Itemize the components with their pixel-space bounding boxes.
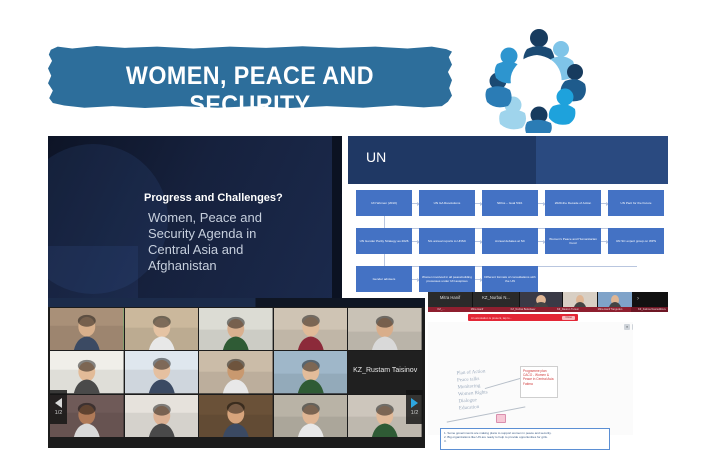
slide-un-framework: UN UN Women (2010)UN GA ResolutionsSDGs …: [348, 136, 668, 298]
gallery-prev-button[interactable]: 1/2: [50, 390, 67, 424]
gallery-next-button[interactable]: 1/2: [406, 390, 423, 424]
flow-box: Annual debates at SC: [482, 228, 538, 254]
header-banner-area: WOMEN, PEACE AND SECURITY: [0, 0, 716, 132]
wps-circle-figures-logo: [483, 25, 591, 133]
participant-tile[interactable]: [199, 395, 273, 437]
flow-box: Gender advisers: [356, 266, 412, 292]
participant-video-feed: [199, 395, 273, 437]
participant-tile[interactable]: [50, 308, 124, 350]
flow-arrow: [601, 241, 607, 242]
slide-right-edge: [332, 136, 342, 298]
filmstrip-thumbnails[interactable]: Mitra HanifKZ_Nurbai N... ›: [428, 292, 668, 307]
whiteboard-right-margin: [633, 312, 668, 450]
filmstrip-next-icon[interactable]: ›: [633, 292, 643, 307]
participant-name-chip: KZ_Nurbai Bekebaev: [500, 307, 546, 312]
participant-tile[interactable]: [274, 308, 348, 350]
participant-tile[interactable]: [125, 308, 199, 350]
chevron-left-icon: [55, 398, 62, 408]
participant-video-feed: [125, 308, 199, 350]
participant-name-chip: Mitra Hanif Tanguden: [590, 307, 630, 312]
filmstrip-thumbnail[interactable]: [598, 292, 632, 307]
flow-arrow: [601, 203, 607, 204]
participant-name-chip: KZ_Dauren Tursun: [547, 307, 589, 312]
chevron-right-icon: [411, 398, 418, 408]
flow-box: 2020-the Decade of Action: [545, 190, 601, 216]
participant-video-feed: [125, 395, 199, 437]
flow-box: UN SC expert group on WPS: [608, 228, 664, 254]
participant-video-feed: [274, 351, 348, 393]
flow-arrow: [412, 279, 418, 280]
slide-decorative-band: [48, 246, 138, 298]
filmstrip-thumbnail[interactable]: Mitra Hanif: [428, 292, 472, 307]
un-flow-diagram: UN Women (2010)UN GA ResolutionsSDGs – G…: [348, 184, 668, 298]
participant-tile[interactable]: KZ_Rustam Taisinov: [348, 351, 422, 393]
page-indicator-left: 1/2: [55, 410, 63, 416]
filmstrip-thumbnail[interactable]: KZ_Nurbai N...: [473, 292, 519, 307]
slide-body-text: Women, Peace andSecurity Agenda inCentra…: [148, 210, 262, 274]
flow-arrow: [475, 203, 481, 204]
flow-arrow: [475, 241, 481, 242]
slide-heading: Progress and Challenges?: [144, 192, 283, 204]
flow-box: UN GA Resolutions: [419, 190, 475, 216]
slide-un-title: UN: [366, 149, 386, 165]
zoom-gallery-window: KZ_Rustam Taisinov: [48, 298, 425, 448]
flow-arrow: [412, 203, 418, 204]
slides-row: Progress and Challenges? Women, Peace an…: [48, 136, 668, 298]
flow-box: UN Pact for the Future: [608, 190, 664, 216]
screenshot-root: WOMEN, PEACE AND SECURITY: [0, 0, 716, 475]
participant-tile[interactable]: [50, 351, 124, 393]
wps-banner: WOMEN, PEACE AND SECURITY: [48, 46, 452, 108]
participant-video-feed: [348, 308, 422, 350]
participant-video-feed: [199, 351, 273, 393]
red-text-note[interactable]: Programme plan CACO - Women & Peace in C…: [520, 366, 558, 398]
list-icon[interactable]: ≡: [624, 324, 630, 330]
flow-box: UN Gender Parity Strategy ао 2026: [356, 228, 412, 254]
handwritten-notes: Plan of ActionPeace talksMonitoringWomen…: [456, 366, 529, 421]
filmstrip-thumbnail[interactable]: [563, 292, 597, 307]
filmstrip-name: KZ_Nurbai N...: [473, 295, 519, 300]
annotation-alert-banner[interactable]: An annotation is present, tap to... Clos…: [468, 314, 578, 321]
participant-video-feed: [274, 395, 348, 437]
filmstrip-thumbnail[interactable]: [520, 292, 562, 307]
flow-box: Women involved in all peacebuilding proc…: [419, 266, 475, 292]
page-indicator-right: 1/2: [411, 410, 419, 416]
participant-tile[interactable]: [199, 351, 273, 393]
participant-tile[interactable]: [199, 308, 273, 350]
flow-box: SDGs – Goal 5/16.: [482, 190, 538, 216]
alert-text: An annotation is present, tap to...: [471, 316, 562, 320]
flow-box: Different formats of consultations with …: [482, 266, 538, 292]
flow-arrow: [412, 241, 418, 242]
whiteboard-canvas[interactable]: Plan of ActionPeace talksMonitoringWomen…: [428, 322, 633, 435]
blue-answer-textbox[interactable]: 1. Some governments are making plans to …: [440, 428, 610, 450]
participant-name-chip: KZ_...: [428, 307, 454, 312]
participant-name-chip: Mitra Hanif: [455, 307, 499, 312]
participant-tile[interactable]: [348, 308, 422, 350]
flow-box: SG annual reports to UNSC: [419, 228, 475, 254]
flow-arrow: [538, 203, 544, 204]
participant-video-feed: [274, 308, 348, 350]
flow-arrow: [475, 279, 481, 280]
participant-video-feed: [50, 308, 124, 350]
participant-video-feed: [125, 351, 199, 393]
banner-title: WOMEN, PEACE AND SECURITY: [62, 62, 438, 120]
slide-progress-and-challenges: Progress and Challenges? Women, Peace an…: [48, 136, 342, 298]
whiteboard-share-window: Mitra HanifKZ_Nurbai N... › KZ_...Mitra …: [428, 292, 668, 450]
participant-name-label: KZ_Rustam Taisinov: [348, 367, 422, 374]
filmstrip-name: Mitra Hanif: [428, 295, 472, 300]
participant-tile[interactable]: [274, 395, 348, 437]
flow-box: UN Women (2010): [356, 190, 412, 216]
participant-tile[interactable]: [125, 351, 199, 393]
participant-tile[interactable]: [125, 395, 199, 437]
sticky-note-icon[interactable]: [496, 414, 506, 423]
participant-tile[interactable]: [274, 351, 348, 393]
flow-box: Women's Peace and Humanitarian Fund: [545, 228, 601, 254]
participant-video-grid: KZ_Rustam Taisinov: [50, 308, 423, 438]
participant-video-feed: [50, 351, 124, 393]
zoom-window-topbar: [48, 298, 425, 307]
slide-un-header-accent: [536, 136, 668, 184]
participant-name-bar: KZ_...Mitra HanifKZ_Nurbai BekebaevKZ_Da…: [428, 307, 668, 312]
flow-arrow: [538, 241, 544, 242]
participant-video-feed: [199, 308, 273, 350]
alert-close-button[interactable]: Close: [562, 316, 575, 320]
